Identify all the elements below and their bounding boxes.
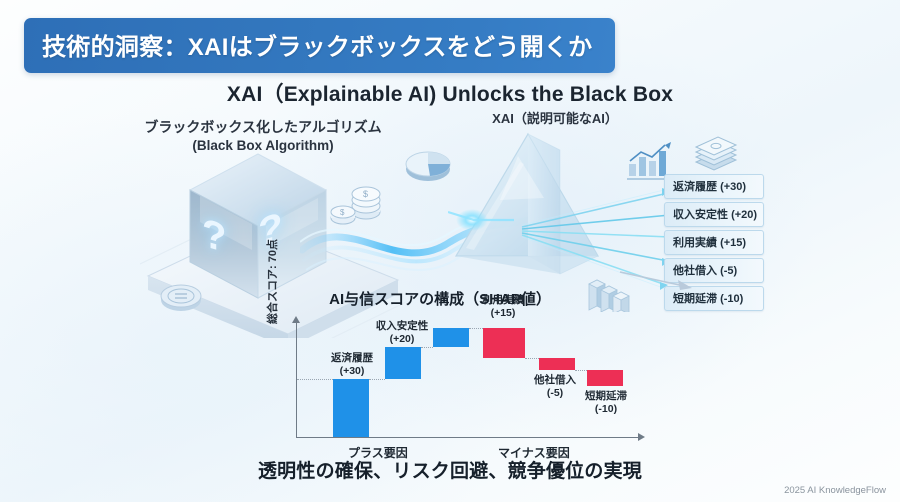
coin-icon [158,280,204,314]
factor-value: (-10) [720,293,743,305]
bar-label-name: 他社借入 [522,374,588,387]
factor-name: 返済履歴 [673,181,717,193]
prism-illustration [448,128,608,298]
factor-name: 収入安定性 [673,209,728,221]
factor-label-list: 返済履歴 (+30) 収入安定性 (+20) 利用実績 (+15) 他社借入 (… [664,174,764,314]
factor-value: (+20) [731,209,757,221]
bar-label-repayment-history: 返済履歴 (+30) [318,352,386,377]
bar-label-value: (+20) [366,333,438,346]
question-mark-icon-left: ? [202,210,226,262]
bar-label-name: 返済履歴 [318,352,386,365]
black-box-cube-illustration: ? ? [186,150,336,307]
factor-name: 他社借入 [673,265,717,277]
factor-name: 短期延滞 [673,293,717,305]
bar-label-name: 収入安定性 [366,320,438,333]
bar-label-usage-record: 利用実績 (+15) [470,294,536,319]
factor-chip[interactable]: 収入安定性 (+20) [664,202,764,227]
svg-text:$: $ [340,208,345,217]
bar-short-term-delinquency[interactable] [587,370,623,386]
connector-5 [575,370,587,371]
blackbox-caption: ブラックボックス化したアルゴリズム (Black Box Algorithm) [118,118,408,155]
y-axis-label: 総合スコア: 70点 [264,214,280,324]
blackbox-caption-line1: ブラックボックス化したアルゴリズム [118,118,408,137]
cube-shape-icon [186,150,336,302]
shap-waterfall-chart: 総合スコア: 70点 返済履歴 (+30) 収入安定性 (+2 [270,316,640,448]
bottom-caption: 透明性の確保、リスク回避、競争優位の実現 [0,456,900,483]
slide-canvas: 技術的洞察：XAIはブラックボックスをどう開くか XAI（Explainable… [0,0,900,502]
bar-usage-record-highlight[interactable] [483,328,525,358]
bar-label-short-term-delinquency: 短期延滞 (-10) [572,390,640,415]
y-axis-arrow-icon [292,316,300,323]
x-axis-arrow-icon [638,433,645,441]
factor-name: 利用実績 [673,237,717,249]
bar-label-value: (+15) [470,307,536,320]
baseline-connector [297,379,333,380]
factor-value: (+15) [720,237,746,249]
bar-label-income-stability: 収入安定性 (+20) [366,320,438,345]
header-banner: 技術的洞察：XAIはブラックボックスをどう開くか [24,18,615,73]
factor-chip[interactable]: 返済履歴 (+30) [664,174,764,199]
factor-chip[interactable]: 短期延滞 (-10) [664,286,764,311]
header-title: 技術的洞察：XAIはブラックボックスをどう開くか [42,34,593,61]
banknote-stack-icon [690,132,742,174]
coin-stack-icon: $ $ [330,178,390,230]
bar-label-value: (-10) [572,403,640,416]
bar-income-stability[interactable] [385,347,421,379]
bar-other-loans[interactable] [539,358,575,370]
connector-1 [369,379,385,380]
main-heading: XAI（Explainable AI) Unlocks the Black Bo… [0,78,900,108]
light-beam-ribbon [300,186,530,296]
bar-label-value: (+30) [318,365,386,378]
bar-label-name: 短期延滞 [572,390,640,403]
factor-value: (+30) [720,181,746,193]
blackbox-caption-line2: (Black Box Algorithm) [118,137,408,155]
prism-caption: XAI（説明可能なAI） [455,108,655,127]
shap-chart-title: AI与信スコアの構成（SHAP値） [270,288,610,309]
factor-value: (-5) [720,265,737,277]
bar-usage-record[interactable] [433,328,469,347]
bar-label-name: 利用実績 [470,294,536,307]
connector-2 [421,347,433,348]
pie-chart-icon [400,143,456,187]
svg-text:$: $ [363,189,368,199]
connector-4 [525,358,539,359]
x-axis-line [296,437,640,438]
bar-repayment-history[interactable] [333,379,369,437]
connector-3 [469,328,483,329]
y-axis-line [296,322,297,438]
factor-chip[interactable]: 他社借入 (-5) [664,258,764,283]
factor-chip[interactable]: 利用実績 (+15) [664,230,764,255]
footer-credit: 2025 AI KnowledgeFlow [784,485,886,496]
